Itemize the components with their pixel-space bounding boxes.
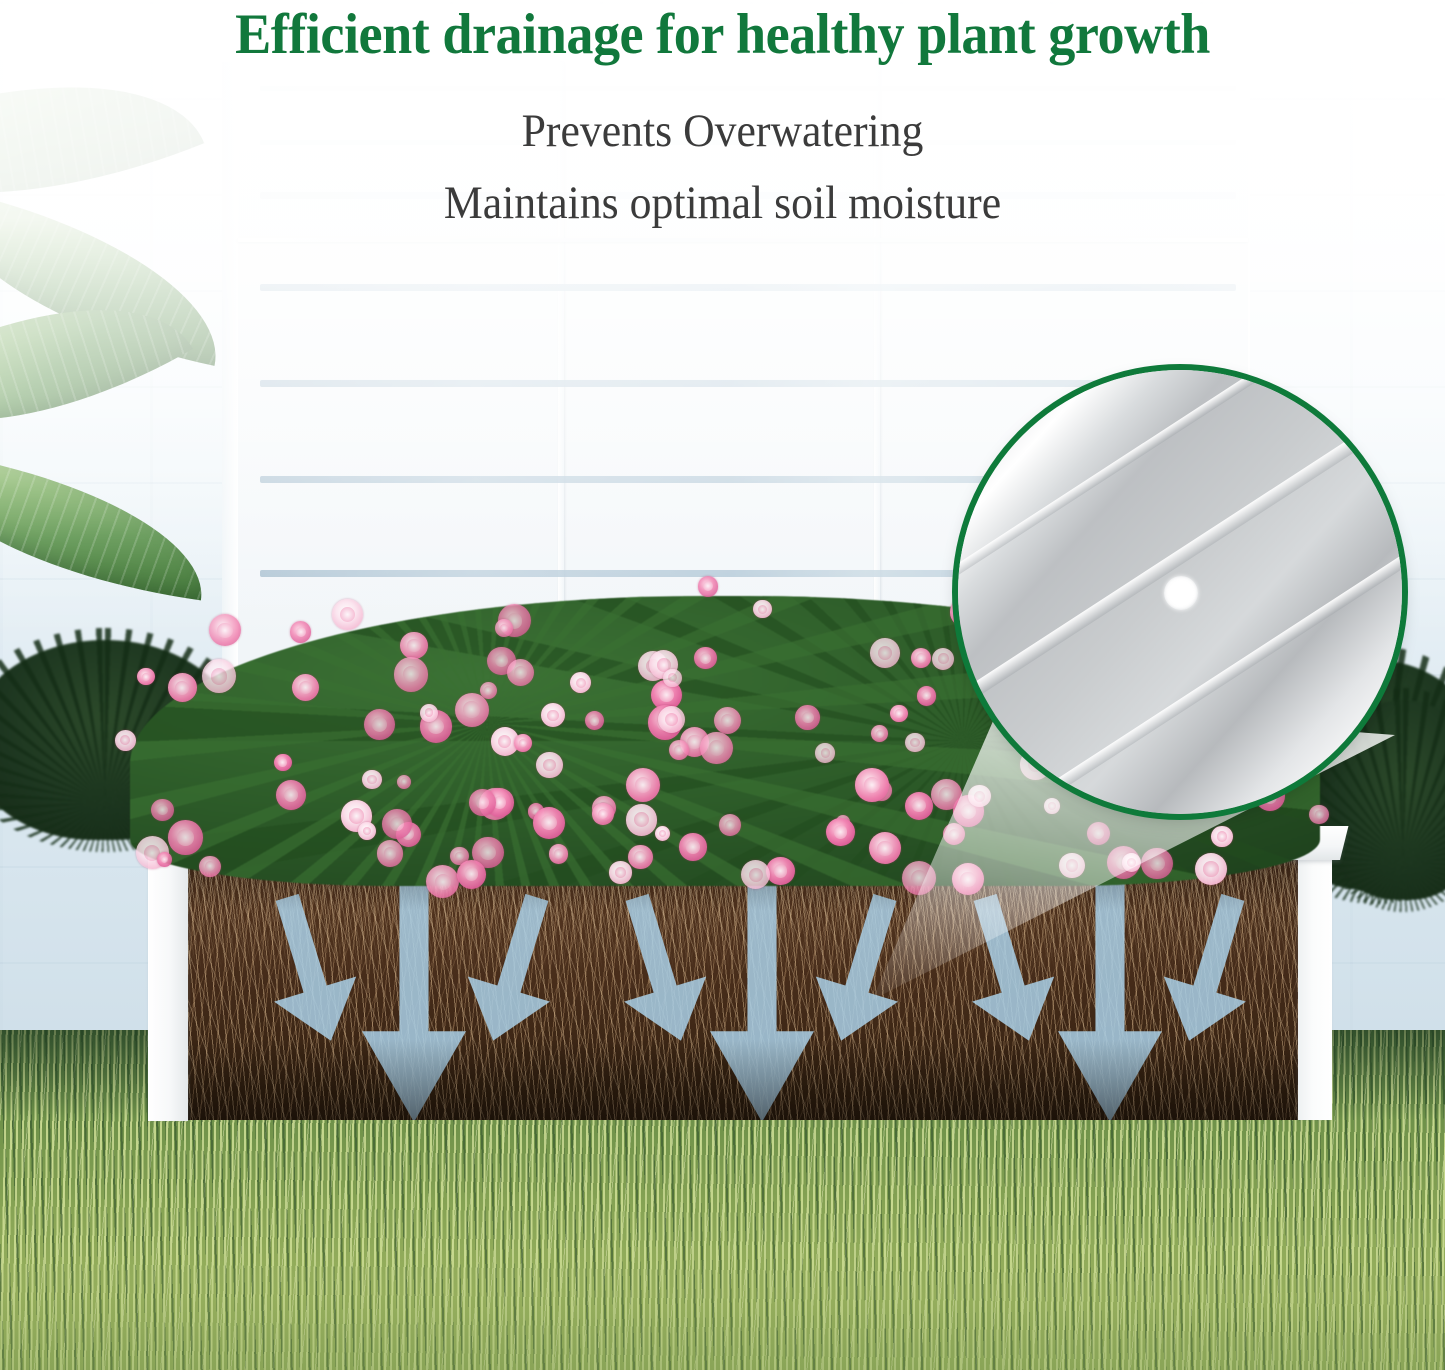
rose-blossom — [507, 659, 534, 686]
rose-blossom — [495, 619, 513, 637]
rose-blossom — [700, 732, 732, 764]
planter-left-wall — [148, 846, 188, 1121]
rose-blossom — [394, 657, 429, 692]
soil-shading — [186, 852, 1300, 1120]
drainage-hole — [1164, 576, 1198, 610]
rose-blossom — [469, 789, 496, 816]
rose-blossom — [870, 638, 900, 668]
rose-blossom — [400, 632, 428, 660]
rose-blossom — [455, 693, 489, 727]
rose-blossom — [168, 673, 197, 702]
rose-blossom — [679, 833, 707, 861]
rose-blossom — [1195, 853, 1227, 885]
rose-blossom — [626, 804, 658, 836]
rose-blossom — [917, 686, 937, 706]
product-image: Efficient drainage for healthy plant gro… — [0, 0, 1445, 1370]
rose-blossom — [137, 668, 154, 685]
rose-blossom — [1087, 822, 1110, 845]
rose-blossom — [609, 861, 631, 883]
rose-blossom — [168, 820, 202, 854]
rose-blossom — [457, 860, 486, 889]
rose-blossom — [826, 818, 854, 846]
rose-blossom — [905, 792, 933, 820]
soil-cutaway — [186, 852, 1300, 1120]
rose-blossom — [628, 845, 653, 870]
rose-blossom — [871, 725, 888, 742]
rose-blossom — [209, 614, 241, 646]
rose-blossom — [694, 647, 716, 669]
rose-blossom — [932, 648, 954, 670]
rose-blossom — [902, 861, 936, 895]
rose-blossom — [536, 752, 563, 779]
rose-blossom — [533, 807, 565, 839]
rose-blossom — [151, 799, 173, 821]
planter-right-wall — [1298, 852, 1332, 1120]
rose-blossom — [420, 704, 438, 722]
drainage-hole-callout — [958, 370, 1402, 814]
rose-blossom — [719, 814, 741, 836]
rose-blossom — [753, 600, 772, 619]
lawn-highlight — [0, 1250, 1445, 1370]
rose-blossom — [905, 733, 925, 753]
rose-blossom — [358, 822, 376, 840]
rose-blossom — [815, 743, 834, 762]
rose-blossom — [377, 840, 404, 867]
rose-blossom — [698, 576, 719, 597]
rose-blossom — [890, 705, 908, 723]
rose-blossom — [795, 705, 819, 729]
rose-blossom — [514, 734, 532, 752]
rose-blossom — [541, 703, 565, 727]
rose-blossom — [202, 659, 236, 693]
rose-blossom — [1122, 853, 1141, 872]
rose-blossom — [276, 780, 306, 810]
rose-blossom — [362, 770, 382, 790]
rose-blossom — [274, 754, 292, 772]
benefit-line-1: Prevents Overwatering — [51, 104, 1395, 158]
rose-blossom — [199, 856, 221, 878]
rose-blossom — [290, 621, 311, 642]
rose-blossom — [1059, 853, 1085, 879]
rose-blossom — [157, 852, 172, 867]
rose-blossom — [332, 599, 364, 631]
rose-blossom — [397, 775, 411, 789]
rose-blossom — [115, 730, 136, 751]
rose-blossom — [663, 669, 682, 688]
rose-blossom — [382, 809, 412, 839]
benefit-line-2: Maintains optimal soil moisture — [51, 176, 1395, 230]
page-title: Efficient drainage for healthy plant gro… — [36, 4, 1409, 66]
rose-blossom — [766, 857, 794, 885]
rose-blossom — [855, 768, 888, 801]
rose-blossom — [592, 803, 614, 825]
